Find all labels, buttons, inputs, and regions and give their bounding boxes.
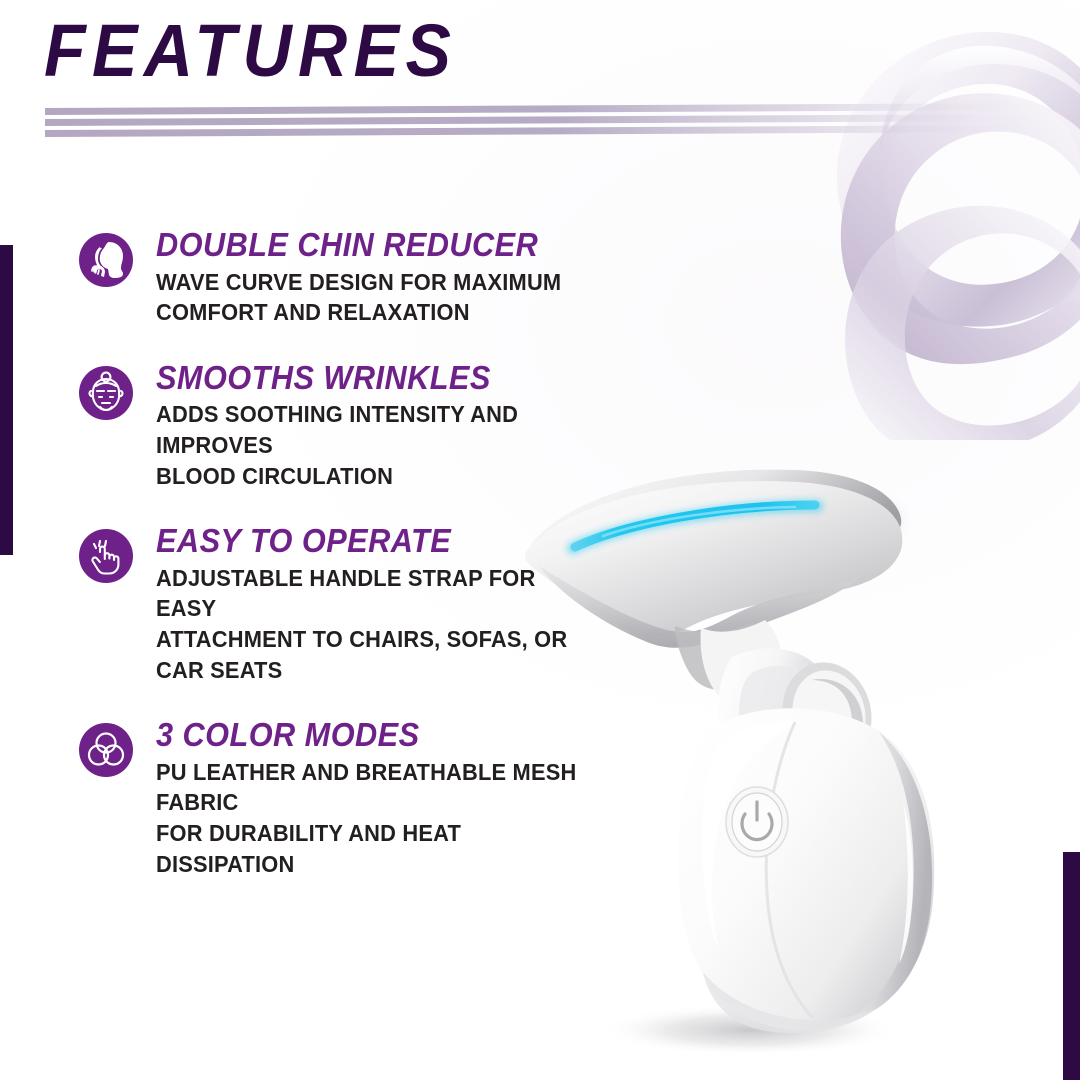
wrinkled-face-icon [78,365,134,421]
feature-heading: EASY TO OPERATE [156,524,588,559]
title-underline-rules [42,103,1042,139]
power-icon [742,802,772,840]
three-overlapping-circles-icon [78,722,134,778]
feature-heading: DOUBLE CHIN REDUCER [156,228,553,263]
feature-item: DOUBLE CHIN REDUCER WAVE CURVE DESIGN FO… [0,226,620,328]
feature-item: EASY TO OPERATE ADJUSTABLE HANDLE STRAP … [0,522,620,685]
device-shadow [600,1004,900,1056]
feature-item: 3 COLOR MODES PU LEATHER AND BREATHABLE … [0,716,620,879]
title-block: FEATURES [44,16,604,86]
feature-description: WAVE CURVE DESIGN FOR MAXIMUM COMFORT AN… [156,267,561,328]
feature-description: ADJUSTABLE HANDLE STRAP FOR EASY ATTACHM… [156,563,597,685]
feature-text: DOUBLE CHIN REDUCER WAVE CURVE DESIGN FO… [156,226,583,328]
swirl-decoration [780,0,1080,440]
features-list: DOUBLE CHIN REDUCER WAVE CURVE DESIGN FO… [0,226,620,910]
feature-text: EASY TO OPERATE ADJUSTABLE HANDLE STRAP … [156,522,620,685]
right-accent-bar [1063,852,1080,1080]
feature-text: 3 COLOR MODES PU LEATHER AND BREATHABLE … [156,716,620,879]
feature-item: SMOOTHS WRINKLES ADDS SOOTHING INTENSITY… [0,359,620,491]
feature-text: SMOOTHS WRINKLES ADDS SOOTHING INTENSITY… [156,359,620,491]
face-profile-chin-icon [78,232,134,288]
device-handle [678,708,934,1030]
power-button [726,787,788,857]
page-title: FEATURES [44,16,559,86]
feature-heading: SMOOTHS WRINKLES [156,361,588,396]
feature-heading: 3 COLOR MODES [156,718,588,753]
feature-description: PU LEATHER AND BREATHABLE MESH FABRIC FO… [156,757,597,879]
infographic-page: FEATURES [0,0,1080,1080]
feature-description: ADDS SOOTHING INTENSITY AND IMPROVES BLO… [156,399,597,491]
tapping-hand-icon [78,528,134,584]
